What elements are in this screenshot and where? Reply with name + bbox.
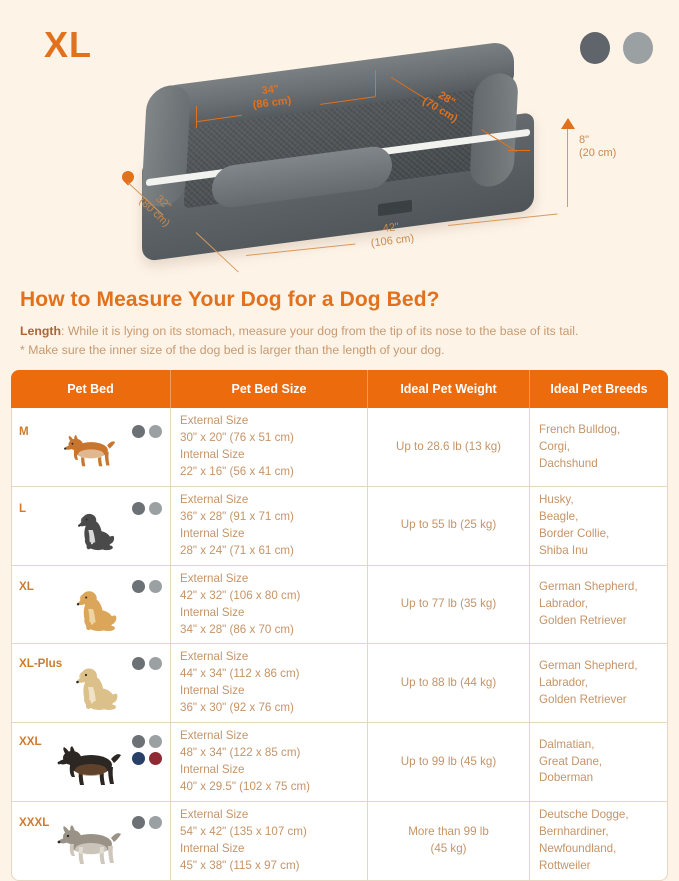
breed-line: Dalmatian,	[539, 738, 594, 751]
cell-pet-bed: M	[11, 408, 171, 487]
color-dot[interactable]	[149, 580, 162, 593]
cell-pet-bed: XL	[11, 566, 171, 645]
internal-size-value: 45" x 38" (115 x 97 cm)	[180, 859, 300, 872]
cell-ideal-breeds: German Shepherd,Labrador,Golden Retrieve…	[530, 566, 668, 645]
color-dots	[128, 735, 162, 765]
weight-line: Up to 77 lb (35 kg)	[401, 597, 496, 610]
color-dots	[128, 425, 162, 438]
external-size-value: 30" x 20" (76 x 51 cm)	[180, 431, 294, 444]
cell-ideal-weight: Up to 55 lb (25 kg)	[368, 487, 530, 566]
cell-ideal-weight: More than 99 lb(45 kg)	[368, 802, 530, 881]
color-dot[interactable]	[132, 502, 145, 515]
breed-line: Great Dane,	[539, 755, 602, 768]
breed-line: German Shepherd,	[539, 580, 638, 593]
breed-line: Golden Retriever	[539, 614, 627, 627]
weight-line: More than 99 lb	[408, 825, 489, 838]
cell-pet-bed-size: External Size48" x 34" (122 x 85 cm)Inte…	[171, 723, 368, 802]
size-label-xl: XL	[19, 579, 34, 596]
color-dot[interactable]	[132, 425, 145, 438]
color-dot[interactable]	[132, 752, 145, 765]
cell-ideal-weight: Up to 99 lb (45 kg)	[368, 723, 530, 802]
color-dots	[128, 580, 162, 593]
size-badge: XL	[44, 24, 92, 66]
table-row: M External Size30" x 20" (76 x 51 cm)Int…	[11, 408, 668, 487]
measure-note: * Make sure the inner size of the dog be…	[20, 341, 661, 359]
breed-line: Labrador,	[539, 597, 588, 610]
breed-line: Deutsche Dogge,	[539, 808, 629, 821]
size-label-xxl: XXL	[19, 734, 42, 751]
internal-size-value: 28" x 24" (71 x 61 cm)	[180, 544, 294, 557]
external-size-label: External Size	[180, 808, 248, 821]
breed-line: Doberman	[539, 771, 593, 784]
cell-pet-bed: XXXL	[11, 802, 171, 881]
internal-size-label: Internal Size	[180, 448, 244, 461]
cell-ideal-breeds: Husky,Beagle,Border Collie,Shiba Inu	[530, 487, 668, 566]
cell-ideal-weight: Up to 28.6 lb (13 kg)	[368, 408, 530, 487]
external-size-label: External Size	[180, 729, 248, 742]
tick-inner-right	[508, 150, 530, 151]
color-dots	[128, 502, 162, 515]
color-dot[interactable]	[149, 657, 162, 670]
cell-ideal-breeds: Deutsche Dogge,Bernhardiner,Newfoundland…	[530, 802, 668, 881]
th-ideal-weight: Ideal Pet Weight	[368, 370, 530, 408]
measure-section: How to Measure Your Dog for a Dog Bed? L…	[0, 282, 679, 359]
breed-line: Husky,	[539, 493, 574, 506]
internal-size-value: 40" x 29.5" (102 x 75 cm)	[180, 780, 310, 793]
breed-line: Rottweiler	[539, 859, 591, 872]
cell-pet-bed-size: External Size42" x 32" (106 x 80 cm)Inte…	[171, 566, 368, 645]
swatch-dark-gray[interactable]	[580, 32, 610, 64]
th-pet-bed-size: Pet Bed Size	[171, 370, 368, 408]
color-dot[interactable]	[132, 657, 145, 670]
hero-section: XL 34" (86 cm) 28" (70 cm) 8" (20 cm)	[0, 0, 679, 282]
length-label: Length	[20, 324, 61, 338]
breed-line: French Bulldog,	[539, 423, 620, 436]
color-dot[interactable]	[149, 752, 162, 765]
table-header-row: Pet Bed Pet Bed Size Ideal Pet Weight Id…	[11, 370, 668, 408]
breed-line: Corgi,	[539, 440, 570, 453]
external-size-label: External Size	[180, 414, 248, 427]
size-label-m: M	[19, 424, 29, 441]
cell-ideal-breeds: French Bulldog,Corgi,Dachshund	[530, 408, 668, 487]
measure-heading: How to Measure Your Dog for a Dog Bed?	[20, 288, 661, 312]
color-dot[interactable]	[149, 502, 162, 515]
cell-ideal-breeds: German Shepherd,Labrador,Golden Retrieve…	[530, 644, 668, 723]
cell-pet-bed: L	[11, 487, 171, 566]
internal-size-label: Internal Size	[180, 606, 244, 619]
external-size-value: 42" x 32" (106 x 80 cm)	[180, 589, 300, 602]
swatch-light-gray[interactable]	[623, 32, 653, 64]
weight-line: Up to 88 lb (44 kg)	[401, 676, 496, 689]
dimension-width: 42" (106 cm)	[369, 219, 415, 249]
color-dot[interactable]	[132, 580, 145, 593]
table-row: XXL External Size48" x 34" (122 x 85 cm)…	[11, 723, 668, 802]
cell-pet-bed: XL-Plus	[11, 644, 171, 723]
size-label-xxxl: XXXL	[19, 815, 49, 832]
cell-ideal-weight: Up to 88 lb (44 kg)	[368, 644, 530, 723]
color-dot[interactable]	[149, 425, 162, 438]
cell-pet-bed-size: External Size54" x 42" (135 x 107 cm)Int…	[171, 802, 368, 881]
breed-line: Shiba Inu	[539, 544, 588, 557]
tick-inner-mid	[375, 70, 376, 96]
external-size-value: 54" x 42" (135 x 107 cm)	[180, 825, 307, 838]
lead-height	[567, 129, 568, 207]
table-row: XXXL External Size54" x 42" (135 x 107 c…	[11, 802, 668, 881]
breed-line: Golden Retriever	[539, 693, 627, 706]
cell-pet-bed-size: External Size44" x 34" (112 x 86 cm)Inte…	[171, 644, 368, 723]
internal-size-label: Internal Size	[180, 684, 244, 697]
arrow-height-top	[561, 118, 575, 129]
table-body: M External Size30" x 20" (76 x 51 cm)Int…	[11, 408, 668, 880]
external-size-value: 44" x 34" (112 x 86 cm)	[180, 667, 300, 680]
external-size-value: 36" x 28" (91 x 71 cm)	[180, 510, 294, 523]
internal-size-value: 36" x 30" (92 x 76 cm)	[180, 701, 294, 714]
tick-inner-left	[196, 106, 197, 128]
th-pet-bed: Pet Bed	[11, 370, 171, 408]
color-dots	[128, 816, 162, 829]
cell-ideal-weight: Up to 77 lb (35 kg)	[368, 566, 530, 645]
internal-size-label: Internal Size	[180, 763, 244, 776]
breed-line: Border Collie,	[539, 527, 609, 540]
cell-pet-bed-size: External Size30" x 20" (76 x 51 cm)Inter…	[171, 408, 368, 487]
breed-line: Dachshund	[539, 457, 598, 470]
cell-pet-bed-size: External Size36" x 28" (91 x 71 cm)Inter…	[171, 487, 368, 566]
breed-line: German Shepherd,	[539, 659, 638, 672]
table-row: XL-Plus External Size44" x 34" (112 x 86…	[11, 644, 668, 723]
table-head: Pet Bed Pet Bed Size Ideal Pet Weight Id…	[11, 370, 668, 408]
breed-line: Beagle,	[539, 510, 578, 523]
measure-length-paragraph: Length: While it is lying on its stomach…	[20, 322, 661, 340]
color-dots	[128, 657, 162, 670]
dimension-height: 8" (20 cm)	[579, 134, 616, 159]
size-label-xl-plus: XL-Plus	[19, 656, 62, 673]
internal-size-label: Internal Size	[180, 842, 244, 855]
external-size-label: External Size	[180, 650, 248, 663]
weight-line: Up to 28.6 lb (13 kg)	[396, 440, 501, 453]
external-size-label: External Size	[180, 493, 248, 506]
size-label-l: L	[19, 501, 26, 518]
breed-line: Bernhardiner,	[539, 825, 609, 838]
color-dot[interactable]	[149, 816, 162, 829]
internal-size-value: 34" x 28" (86 x 70 cm)	[180, 623, 294, 636]
table-row: XL External Size42" x 32" (106 x 80 cm)I…	[11, 566, 668, 645]
breed-line: Labrador,	[539, 676, 588, 689]
external-size-value: 48" x 34" (122 x 85 cm)	[180, 746, 300, 759]
weight-line: Up to 99 lb (45 kg)	[401, 755, 496, 768]
external-size-label: External Size	[180, 572, 248, 585]
color-dot[interactable]	[149, 735, 162, 748]
cell-ideal-breeds: Dalmatian,Great Dane,Doberman	[530, 723, 668, 802]
th-ideal-breeds: Ideal Pet Breeds	[530, 370, 668, 408]
color-swatch-row	[580, 32, 653, 64]
color-dot[interactable]	[132, 816, 145, 829]
size-table-wrapper: Pet Bed Pet Bed Size Ideal Pet Weight Id…	[0, 370, 679, 880]
weight-line: Up to 55 lb (25 kg)	[401, 518, 496, 531]
size-chart-table: Pet Bed Pet Bed Size Ideal Pet Weight Id…	[11, 370, 668, 880]
dimension-inner-width: 34" (86 cm)	[251, 82, 292, 112]
breed-line: Newfoundland,	[539, 842, 616, 855]
cell-pet-bed: XXL	[11, 723, 171, 802]
table-row: L External Size36" x 28" (91 x 71 cm)Int…	[11, 487, 668, 566]
color-dot[interactable]	[132, 735, 145, 748]
weight-line: (45 kg)	[430, 842, 466, 855]
length-text: : While it is lying on its stomach, meas…	[61, 324, 578, 338]
internal-size-value: 22" x 16" (56 x 41 cm)	[180, 465, 294, 478]
internal-size-label: Internal Size	[180, 527, 244, 540]
